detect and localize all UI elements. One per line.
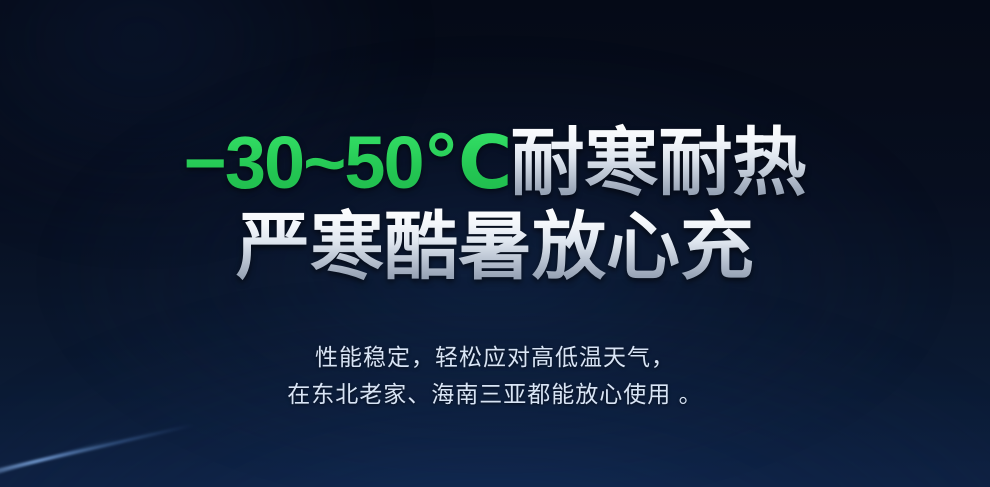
promo-banner: −30~50℃耐寒耐热 严寒酷暑放心充 性能稳定，轻松应对高低温天气， 在东北老… (0, 0, 990, 487)
headline-line-2: 严寒酷暑放心充 (184, 211, 807, 283)
subtitle-line-1: 性能稳定，轻松应对高低温天气， (287, 339, 702, 376)
headline-line-1: −30~50℃耐寒耐热 (184, 127, 807, 199)
banner-content: −30~50℃耐寒耐热 严寒酷暑放心充 性能稳定，轻松应对高低温天气， 在东北老… (0, 0, 990, 487)
headline: −30~50℃耐寒耐热 严寒酷暑放心充 (184, 0, 807, 283)
temperature-range-text: −30~50℃ (184, 121, 511, 204)
tagline-text: 严寒酷暑放心充 (236, 205, 754, 288)
subtitle-line-2: 在东北老家、海南三亚都能放心使用 。 (287, 376, 702, 413)
feature-text: 耐寒耐热 (510, 121, 806, 204)
subtitle: 性能稳定，轻松应对高低温天气， 在东北老家、海南三亚都能放心使用 。 (287, 339, 702, 414)
